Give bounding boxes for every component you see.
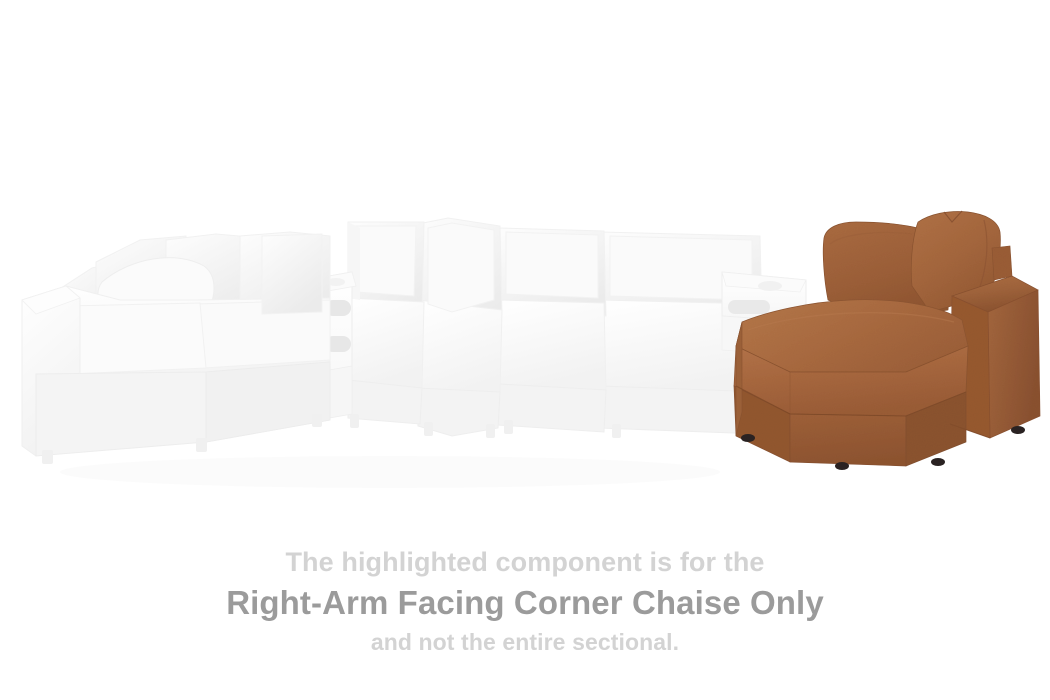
ghost-module-corner-wedge bbox=[418, 218, 502, 438]
caption-line-intro: The highlighted component is for the bbox=[0, 545, 1050, 579]
cupholder-recess bbox=[728, 300, 770, 314]
ghost-foot bbox=[312, 414, 322, 427]
ghost-floor-shadow bbox=[60, 456, 720, 488]
product-highlight-page: The highlighted component is for the Rig… bbox=[0, 0, 1050, 700]
ghost-module-armless-chair bbox=[348, 222, 424, 428]
ghost-foot bbox=[196, 438, 207, 452]
chaise-back-shoulder bbox=[992, 246, 1012, 280]
product-illustration bbox=[0, 0, 1050, 520]
chaise-foot bbox=[835, 462, 849, 470]
highlighted-raf-corner-chaise bbox=[734, 211, 1040, 470]
chaise-foot bbox=[741, 434, 755, 442]
chaise-foot bbox=[1011, 426, 1025, 434]
caption-line-disclaimer: and not the entire sectional. bbox=[0, 627, 1050, 657]
caption-component-name: Right-Arm Facing Corner Chaise Only bbox=[0, 582, 1050, 624]
chaise-arm-outer bbox=[988, 290, 1040, 438]
ghosted-sectional bbox=[22, 218, 806, 488]
chaise-foot bbox=[931, 458, 945, 466]
ghost-foot bbox=[42, 450, 53, 464]
sectional-illustration-svg bbox=[0, 0, 1050, 520]
caption-block: The highlighted component is for the Rig… bbox=[0, 545, 1050, 657]
ghost-module-armless-left bbox=[262, 234, 322, 314]
ghost-module-armless-right bbox=[498, 228, 606, 434]
chaise-base-front bbox=[790, 414, 906, 466]
